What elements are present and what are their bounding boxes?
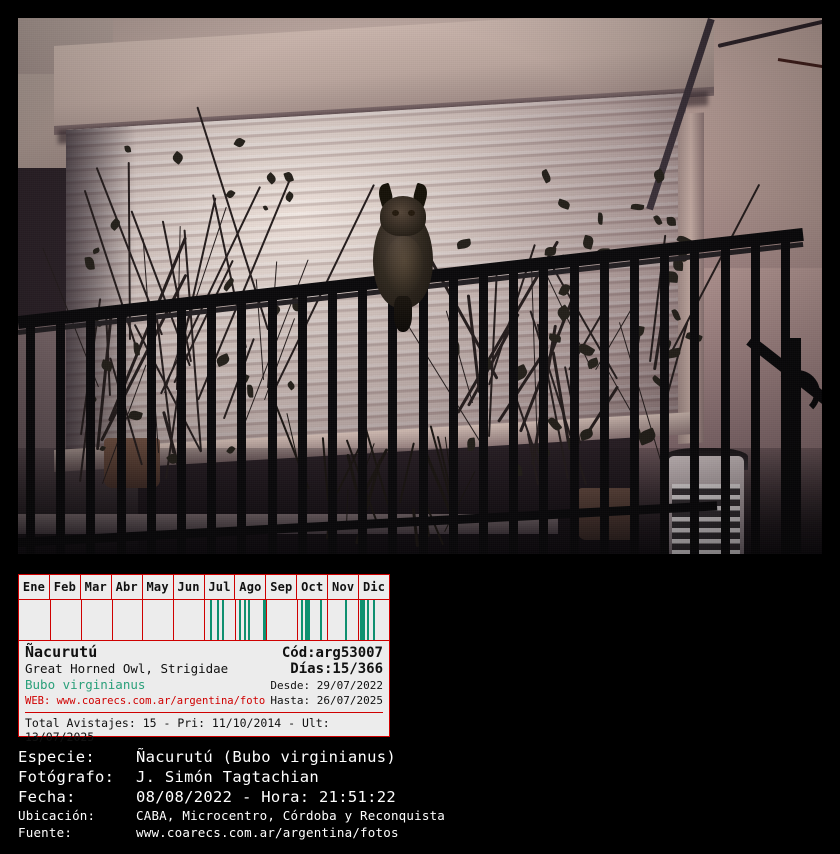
species-totals: Total Avistajes: 15 - Pri: 11/10/2014 - … xyxy=(25,712,383,744)
calendar-month-oct: Oct xyxy=(297,575,328,599)
railing-bar xyxy=(751,236,760,554)
calendar-month-may: May xyxy=(143,575,174,599)
calendar-sighting-tick xyxy=(222,600,224,640)
calendar-sighting-tick xyxy=(239,600,241,640)
meta-label-especie: Especie: xyxy=(18,748,136,766)
railing-bar xyxy=(207,297,216,554)
species-row-common: Ñacurutú Cód:arg53007 xyxy=(25,645,383,661)
railing-bar xyxy=(56,314,65,554)
calendar-month-divider xyxy=(204,600,205,640)
species-scientific-name: Bubo virginianus xyxy=(25,677,145,692)
railing-bar xyxy=(147,304,156,554)
owl-head xyxy=(380,196,426,236)
calendar-sighting-tick xyxy=(248,600,250,640)
calendar-month-divider xyxy=(112,600,113,640)
meta-label-fuente: Fuente: xyxy=(18,825,136,840)
railing-bar xyxy=(298,287,307,554)
calendar-month-jul: Jul xyxy=(205,575,236,599)
calendar-month-divider xyxy=(173,600,174,640)
meta-value-ubicacion: CABA, Microcentro, Córdoba y Reconquista xyxy=(136,808,445,823)
railing-bar xyxy=(479,266,488,554)
species-code: Cód:arg53007 xyxy=(282,646,383,661)
calendar-sighting-tick xyxy=(308,600,310,640)
calendar-month-divider xyxy=(81,600,82,640)
calendar-month-divider xyxy=(358,600,359,640)
calendar-month-sep: Sep xyxy=(266,575,297,599)
sightings-calendar-panel: EneFebMarAbrMayJunJulAgoSepOctNovDic Ñac… xyxy=(18,574,390,737)
meta-label-ubicacion: Ubicación: xyxy=(18,808,136,823)
railing-bar xyxy=(268,290,277,554)
calendar-month-ene: Ene xyxy=(19,575,50,599)
calendar-sighting-tick xyxy=(217,600,219,640)
owl-breast xyxy=(384,236,424,296)
railing-bar xyxy=(509,263,518,554)
calendar-month-nov: Nov xyxy=(328,575,359,599)
species-common-name: Ñacurutú xyxy=(25,645,97,660)
railing-bar xyxy=(117,307,126,554)
meta-label-fotografo: Fotógrafo: xyxy=(18,768,136,786)
owl-tail xyxy=(394,296,412,332)
species-info: Ñacurutú Cód:arg53007 Great Horned Owl, … xyxy=(19,641,389,744)
calendar-sighting-tick xyxy=(210,600,212,640)
species-row-scientific: Bubo virginianus Desde: 29/07/2022 xyxy=(25,677,383,693)
species-english-name: Great Horned Owl, Strigidae xyxy=(25,661,228,676)
meta-line-especie: Especie: Ñacurutú (Bubo virginianus) xyxy=(18,748,818,766)
calendar-sighting-tick xyxy=(320,600,322,640)
calendar-sighting-tick xyxy=(263,600,266,640)
species-web-link[interactable]: WEB: www.coarecs.com.ar/argentina/foto xyxy=(25,694,265,709)
railing-bar xyxy=(358,280,367,554)
meta-line-fecha: Fecha: 08/08/2022 - Hora: 21:51:22 xyxy=(18,788,818,806)
owl-eye-right xyxy=(408,210,415,216)
calendar-sighting-tick xyxy=(367,600,369,640)
meta-line-fotografo: Fotógrafo: J. Simón Tagtachian xyxy=(18,768,818,786)
calendar-month-divider xyxy=(235,600,236,640)
calendar-sighting-tick xyxy=(301,600,303,640)
calendar-month-feb: Feb xyxy=(50,575,81,599)
calendar-month-divider xyxy=(297,600,298,640)
calendar-month-mar: Mar xyxy=(81,575,112,599)
photograph xyxy=(18,18,822,554)
owl-eye-left xyxy=(392,210,399,216)
species-date-from: Desde: 29/07/2022 xyxy=(270,678,383,693)
calendar-month-divider xyxy=(327,600,328,640)
meta-label-fecha: Fecha: xyxy=(18,788,136,806)
calendar-month-divider xyxy=(50,600,51,640)
railing-bar xyxy=(26,317,35,554)
owl xyxy=(370,184,436,324)
railing-scroll xyxy=(774,370,820,416)
calendar-month-abr: Abr xyxy=(112,575,143,599)
calendar-sighting-tick xyxy=(345,600,347,640)
meta-value-fecha: 08/08/2022 - Hora: 21:51:22 xyxy=(136,788,396,806)
species-row-english: Great Horned Owl, Strigidae Días:15/366 xyxy=(25,661,383,677)
calendar-sighting-tick xyxy=(373,600,375,640)
species-row-web: WEB: www.coarecs.com.ar/argentina/foto H… xyxy=(25,693,383,709)
meta-value-fuente[interactable]: www.coarecs.com.ar/argentina/fotos xyxy=(136,825,399,840)
railing-bar xyxy=(177,300,186,554)
railing-bar xyxy=(86,310,95,554)
calendar-month-header: EneFebMarAbrMayJunJulAgoSepOctNovDic xyxy=(19,575,389,600)
photo-metadata: Especie: Ñacurutú (Bubo virginianus) Fot… xyxy=(18,748,818,842)
species-date-to: Hasta: 26/07/2025 xyxy=(270,693,383,708)
meta-line-ubicacion: Ubicación: CABA, Microcentro, Córdoba y … xyxy=(18,808,818,823)
calendar-month-ago: Ago xyxy=(235,575,266,599)
species-days: Días:15/366 xyxy=(290,662,383,677)
calendar-sighting-tick xyxy=(360,600,365,640)
meta-value-fotografo: J. Simón Tagtachian xyxy=(136,768,319,786)
calendar-month-jun: Jun xyxy=(174,575,205,599)
calendar-sighting-tick xyxy=(244,600,246,640)
meta-value-especie: Ñacurutú (Bubo virginianus) xyxy=(136,748,396,766)
railing-bar xyxy=(449,270,458,554)
meta-line-fuente: Fuente: www.coarecs.com.ar/argentina/fot… xyxy=(18,825,818,840)
railing-bar xyxy=(237,293,246,554)
railing-bar xyxy=(328,283,337,554)
calendar-month-dic: Dic xyxy=(359,575,389,599)
calendar-month-divider xyxy=(142,600,143,640)
calendar-sightings-track xyxy=(19,600,389,641)
railing-bar xyxy=(721,239,730,554)
